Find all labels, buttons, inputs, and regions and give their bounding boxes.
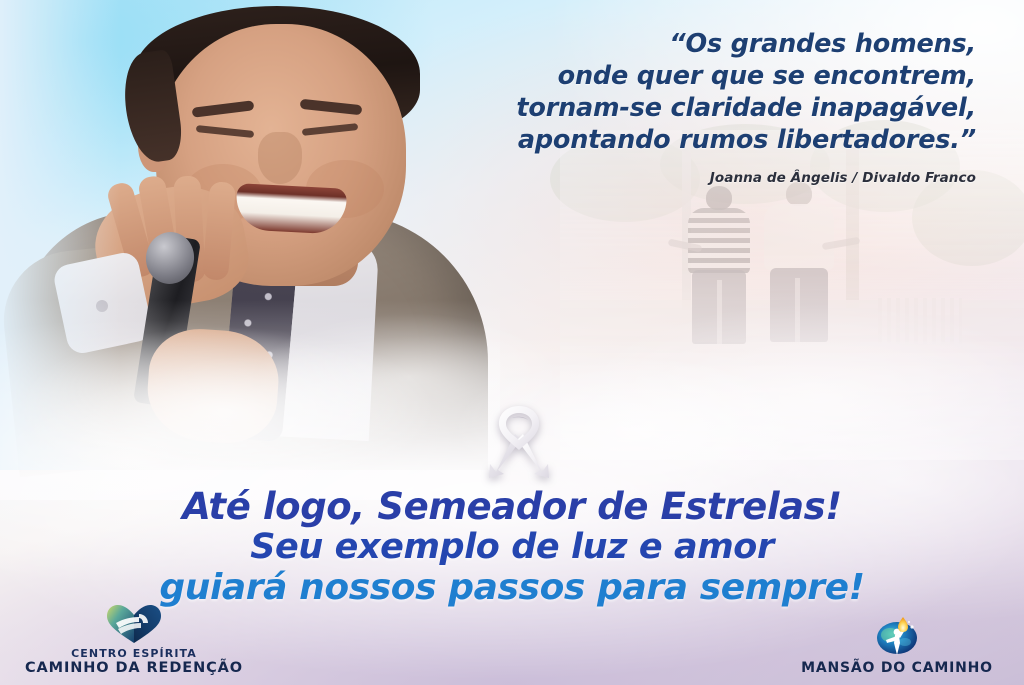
logo-centro-espirita: CENTRO ESPÍRITA CAMINHO DA REDENÇÃO: [0, 604, 268, 677]
quote-line-3: tornam-se claridade inapagável,: [416, 92, 976, 124]
headline-line-2: Seu exemplo de luz e amor: [0, 527, 1024, 567]
quote-text: “Os grandes homens, onde quer que se enc…: [416, 28, 976, 156]
quote-line-2: onde quer que se encontrem,: [416, 60, 976, 92]
quote-attribution: Joanna de Ângelis / Divaldo Franco: [416, 170, 976, 186]
heart-hands-icon: [105, 604, 163, 644]
quote-line-4: apontando rumos libertadores.”: [416, 124, 976, 156]
headline: Até logo, Semeador de Estrelas! Seu exem…: [0, 486, 1024, 609]
headline-line-1: Até logo, Semeador de Estrelas!: [0, 486, 1024, 527]
logo-left-line-2: CAMINHO DA REDENÇÃO: [0, 660, 268, 677]
memorial-poster: “Os grandes homens, onde quer que se enc…: [0, 0, 1024, 685]
white-mourning-ribbon-icon: [488, 404, 550, 482]
logo-left-line-1: CENTRO ESPÍRITA: [0, 647, 268, 660]
logo-mansao-do-caminho: MANSÃO DO CAMINHO: [778, 615, 1016, 677]
quote-line-1: “Os grandes homens,: [416, 28, 976, 60]
globe-figure-flame-icon: [872, 615, 922, 657]
headline-line-3: guiará nossos passos para sempre!: [0, 567, 1024, 609]
logo-right-line-2: MANSÃO DO CAMINHO: [778, 660, 1016, 677]
